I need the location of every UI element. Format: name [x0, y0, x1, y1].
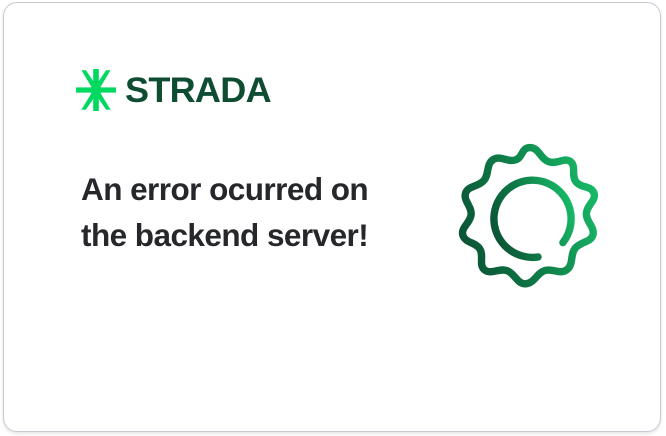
strada-asterisk-icon: [76, 69, 116, 111]
error-headline: An error ocurred on the backend server!: [81, 166, 381, 258]
error-card: STRADA An error ocurred on the backend s…: [3, 2, 661, 432]
brand-logo: STRADA: [76, 69, 267, 111]
gear-icon: [450, 141, 610, 304]
brand-wordmark: STRADA: [125, 73, 271, 108]
